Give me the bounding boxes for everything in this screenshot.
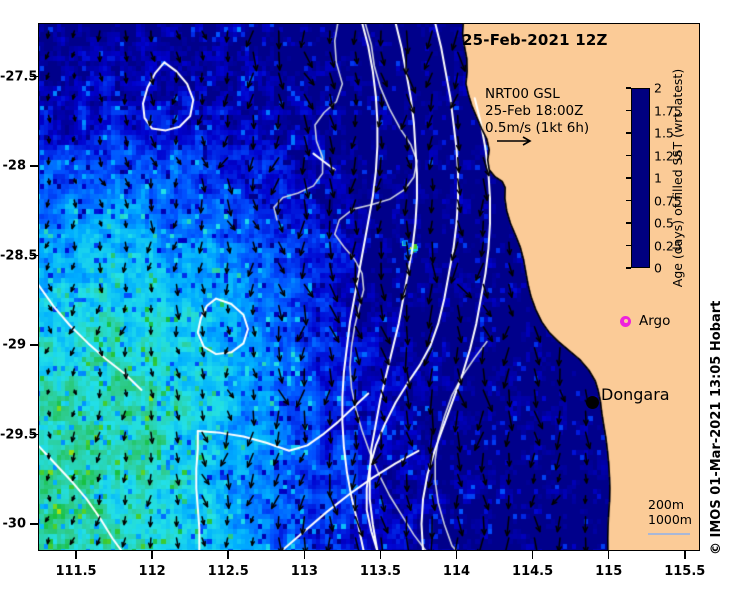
figure-canvas: 25-Feb-2021 12Z NRT00 GSL 25-Feb 18:00Z … <box>0 0 739 592</box>
depth-label-200m: 200m <box>648 497 692 512</box>
argo-legend-label: Argo <box>639 313 670 329</box>
colorbar-tick-label: 0 <box>654 261 662 276</box>
colorbar-tick-label: 2 <box>654 81 662 96</box>
x-tickmark <box>608 551 610 559</box>
colorbar-tickmark <box>626 87 631 89</box>
info-line-product: NRT00 GSL <box>485 86 589 103</box>
right-arrow-icon <box>496 135 536 147</box>
x-tick-label: 113.5 <box>360 564 401 579</box>
x-tickmark <box>456 551 458 559</box>
contours-and-current-vectors-layer <box>38 23 700 551</box>
x-tickmark <box>75 551 77 559</box>
x-tickmark <box>304 551 306 559</box>
copyright-credit: © IMOS 01-Mar-2021 13:05 Hobart <box>709 301 724 555</box>
y-tick-label: -30 <box>0 517 26 532</box>
y-tickmark <box>30 523 38 525</box>
argo-float-marker-icon <box>620 316 631 327</box>
y-tickmark <box>30 344 38 346</box>
bathymetry-depth-key: 200m 1000m <box>648 497 692 527</box>
x-tickmark <box>227 551 229 559</box>
city-dot-icon[interactable] <box>586 396 599 409</box>
colorbar-tickmark <box>626 177 631 179</box>
y-tick-label: -29.5 <box>0 427 26 442</box>
x-tick-label: 111.5 <box>55 564 96 579</box>
colorbar-tickmark <box>626 267 631 269</box>
y-tick-label: -29 <box>0 338 26 353</box>
argo-legend-entry[interactable]: Argo <box>620 313 670 329</box>
colorbar-tickmark <box>626 132 631 134</box>
x-tickmark <box>151 551 153 559</box>
x-tick-label: 113 <box>291 564 318 579</box>
colorbar-tick-label: 1 <box>654 171 662 186</box>
map-plot-area[interactable]: 25-Feb-2021 12Z NRT00 GSL 25-Feb 18:00Z … <box>38 23 700 551</box>
colorbar-tickmark <box>626 155 631 157</box>
colorbar-tickmark <box>626 245 631 247</box>
y-tick-label: -28 <box>0 159 26 174</box>
y-tickmark <box>30 165 38 167</box>
x-tick-label: 112.5 <box>208 564 249 579</box>
x-tickmark <box>684 551 686 559</box>
x-tick-label: 115 <box>595 564 622 579</box>
x-tick-label: 114.5 <box>512 564 553 579</box>
y-tick-label: -27.5 <box>0 69 26 84</box>
depth-label-1000m: 1000m <box>648 512 692 527</box>
colorbar-tickmark <box>626 110 631 112</box>
info-line-timestamp: 25-Feb 18:00Z <box>485 103 589 120</box>
colorbar-tickmark <box>626 200 631 202</box>
map-date-title: 25-Feb-2021 12Z <box>462 31 608 49</box>
x-tick-label: 114 <box>443 564 470 579</box>
x-tick-label: 112 <box>139 564 166 579</box>
place-label-dongara: Dongara <box>601 385 670 404</box>
colorbar-tickmark <box>626 222 631 224</box>
y-tick-label: -28.5 <box>0 248 26 263</box>
scalebar-rule <box>648 533 690 535</box>
x-tick-label: 115.5 <box>664 564 705 579</box>
colorbar-axis-title: Age (days) of filled SST (wrt latest) <box>670 69 685 287</box>
colorbar-gradient <box>631 88 650 268</box>
colorbar[interactable]: 00.250.50.7511.251.51.752 <box>631 88 650 268</box>
x-tickmark <box>532 551 534 559</box>
x-tickmark <box>380 551 382 559</box>
current-source-info-block: NRT00 GSL 25-Feb 18:00Z 0.5m/s (1kt 6h) <box>485 86 589 137</box>
